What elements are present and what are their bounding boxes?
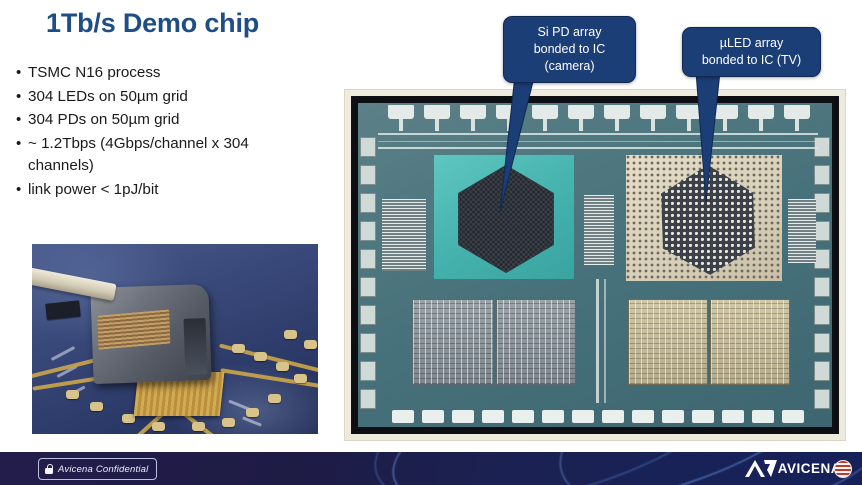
- bond-pad: [424, 105, 450, 119]
- list-item-text: link power < 1pJ/bit: [28, 181, 158, 198]
- bond-pad: [360, 193, 376, 213]
- bond-pad: [388, 105, 414, 119]
- bond-pad: [632, 410, 654, 423]
- bond-pad: [360, 389, 376, 409]
- bond-pad: [452, 410, 474, 423]
- bond-pad: [814, 333, 830, 353]
- bullet-marker: •: [16, 133, 21, 156]
- bullet-marker: •: [16, 109, 21, 132]
- stripe-array: [584, 195, 614, 265]
- logic-block: [412, 299, 494, 385]
- pcb-pad: [246, 408, 259, 417]
- assembly-photo: [32, 244, 318, 434]
- bond-pad: [662, 410, 684, 423]
- bond-pad: [360, 305, 376, 325]
- logic-block: [710, 299, 790, 385]
- callout-uled[interactable]: µLED array bonded to IC (TV): [682, 27, 821, 77]
- pcb-pad: [66, 390, 79, 399]
- pcb-pad: [222, 418, 235, 427]
- list-item: • TSMC N16 process: [14, 62, 314, 85]
- bond-pad: [814, 389, 830, 409]
- routing-bus: [378, 133, 818, 135]
- logic-block: [496, 299, 576, 385]
- stripe-array: [382, 199, 426, 271]
- list-item-text: ~ 1.2Tbps (4Gbps/channel x 304 channels): [28, 135, 249, 175]
- page-title: 1Tb/s Demo chip: [46, 8, 259, 39]
- list-item: • ~ 1.2Tbps (4Gbps/channel x 304 channel…: [14, 133, 314, 178]
- bond-pad: [360, 165, 376, 185]
- bond-pad: [814, 305, 830, 325]
- certification-badge-icon: [834, 460, 852, 478]
- lock-icon: [45, 464, 53, 474]
- bond-pad: [814, 249, 830, 269]
- logic-block: [628, 299, 708, 385]
- bond-pad: [784, 105, 810, 119]
- bond-pad: [482, 410, 504, 423]
- bond-pad: [360, 249, 376, 269]
- callout-line: bonded to IC: [514, 41, 625, 58]
- stripe-array: [788, 199, 816, 263]
- die-surface: [358, 103, 832, 427]
- bond-pad: [722, 410, 744, 423]
- bond-pad: [360, 361, 376, 381]
- bond-pad: [814, 193, 830, 213]
- pcb-pad: [232, 344, 245, 353]
- bond-pad: [752, 410, 774, 423]
- bond-pad: [392, 410, 414, 423]
- list-item-text: TSMC N16 process: [28, 64, 161, 81]
- bullet-marker: •: [16, 86, 21, 109]
- die-frame: [351, 96, 839, 434]
- list-item: • 304 PDs on 50µm grid: [14, 109, 314, 132]
- bond-pad: [360, 333, 376, 353]
- callout-line: Si PD array: [514, 24, 625, 41]
- list-item: • 304 LEDs on 50µm grid: [14, 86, 314, 109]
- footer-bar: Avicena Confidential AVICENA: [0, 452, 862, 485]
- bond-pad: [360, 221, 376, 241]
- slide-canvas: 1Tb/s Demo chip • TSMC N16 process • 304…: [0, 0, 862, 485]
- avicena-logo: AVICENA: [744, 455, 852, 482]
- bond-pad: [360, 137, 376, 157]
- bond-pad: [568, 105, 594, 119]
- pcb-pad: [276, 362, 289, 371]
- die-photo: [345, 90, 845, 440]
- confidential-label: Avicena Confidential: [58, 464, 148, 475]
- callout-tail-right-icon: [690, 72, 726, 204]
- callout-line: bonded to IC (TV): [693, 52, 810, 69]
- bond-pad: [692, 410, 714, 423]
- confidential-badge: Avicena Confidential: [38, 458, 157, 480]
- bond-pad: [814, 277, 830, 297]
- list-item: • link power < 1pJ/bit: [14, 179, 314, 202]
- pcb-pad: [192, 422, 205, 431]
- pcb-pad: [254, 352, 267, 361]
- callout-line: (camera): [514, 58, 625, 75]
- bond-pad: [814, 165, 830, 185]
- bond-pad: [814, 361, 830, 381]
- bullet-marker: •: [16, 62, 21, 85]
- callout-tail-left-icon: [478, 66, 538, 214]
- routing-bus: [604, 279, 606, 403]
- bond-pad: [542, 410, 564, 423]
- bond-pad: [572, 410, 594, 423]
- pcb-pad: [152, 422, 165, 431]
- bullet-marker: •: [16, 179, 21, 202]
- bond-pad: [640, 105, 666, 119]
- callout-si-pd[interactable]: Si PD array bonded to IC (camera): [503, 16, 636, 83]
- bullet-list: • TSMC N16 process • 304 LEDs on 50µm gr…: [14, 62, 314, 202]
- bond-pad: [814, 221, 830, 241]
- pcb-pad: [268, 394, 281, 403]
- bond-pad: [422, 410, 444, 423]
- bond-pad: [748, 105, 774, 119]
- avicena-mark-icon: [744, 458, 778, 479]
- routing-bus: [596, 279, 599, 403]
- pcb-pad: [90, 402, 103, 411]
- bond-pad: [602, 410, 624, 423]
- bond-pad: [782, 410, 804, 423]
- list-item-text: 304 PDs on 50µm grid: [28, 111, 179, 128]
- bond-pad: [360, 277, 376, 297]
- pcb-pad: [284, 330, 297, 339]
- pcb-pad: [304, 340, 317, 349]
- bond-pad: [604, 105, 630, 119]
- list-item-text: 304 LEDs on 50µm grid: [28, 88, 188, 105]
- bond-pad: [512, 410, 534, 423]
- callout-line: µLED array: [693, 35, 810, 52]
- pcb-pad: [294, 374, 307, 383]
- routing-bus: [378, 147, 818, 149]
- avicena-wordmark: AVICENA: [778, 461, 841, 476]
- routing-bus: [378, 141, 818, 142]
